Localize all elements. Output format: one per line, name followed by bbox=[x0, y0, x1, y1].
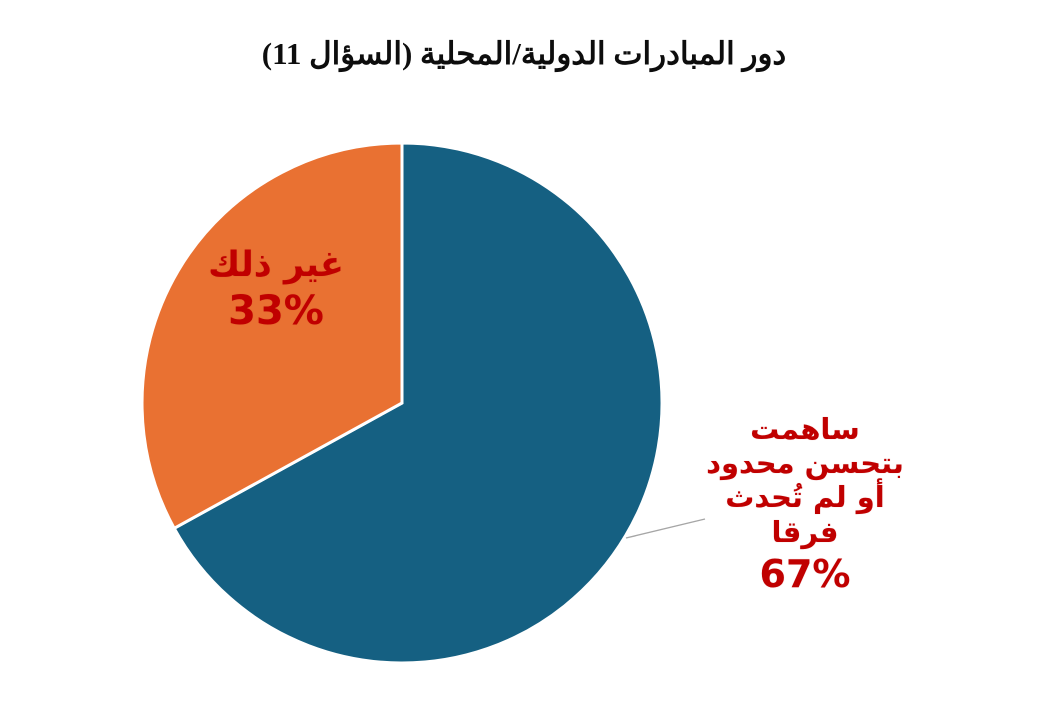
data-label-contributed-line2: بتحسن محدود bbox=[690, 446, 920, 480]
data-label-contributed: ساهمت بتحسن محدود أو لم تُحدث فرقا 67% bbox=[690, 412, 920, 597]
pie-chart: دور المبادرات الدولية/المحلية (السؤال 11… bbox=[0, 0, 1048, 720]
data-label-other-value: 33% bbox=[176, 288, 376, 335]
data-label-contributed-line1: ساهمت bbox=[690, 412, 920, 446]
pie-svg bbox=[0, 0, 1048, 720]
data-label-other-category: غير ذلك bbox=[176, 245, 376, 286]
plot-area: غير ذلك 33% ساهمت بتحسن محدود أو لم تُحد… bbox=[0, 0, 1048, 720]
data-label-contributed-line3: أو لم تُحدث bbox=[690, 480, 920, 514]
data-label-other: غير ذلك 33% bbox=[176, 245, 376, 335]
data-label-contributed-line4: فرقا bbox=[690, 515, 920, 549]
data-label-contributed-value: 67% bbox=[690, 552, 920, 597]
